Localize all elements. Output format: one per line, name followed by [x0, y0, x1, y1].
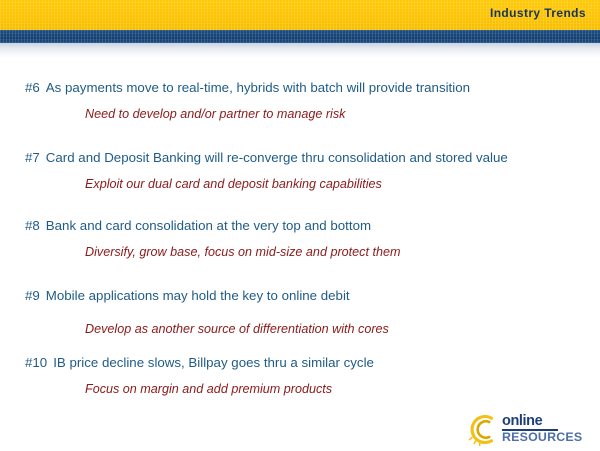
company-logo: online RESOURCES — [466, 410, 594, 448]
bullet-main-line: #6As payments move to real-time, hybrids… — [25, 80, 470, 95]
bullet-main-text: Bank and card consolidation at the very … — [46, 218, 371, 233]
logo-line-online: online — [502, 414, 542, 429]
bullet-main-text: As payments move to real-time, hybrids w… — [46, 80, 470, 95]
bullet-main-text: Card and Deposit Banking will re-converg… — [46, 150, 508, 165]
bullet-sub-line: Need to develop and/or partner to manage… — [85, 107, 345, 121]
bullet-main-line: #7Card and Deposit Banking will re-conve… — [25, 150, 508, 165]
bullet-main-line: #10IB price decline slows, Billpay goes … — [25, 355, 374, 370]
bullet-sub-line: Develop as another source of differentia… — [85, 322, 389, 336]
bullet-sub-line: Focus on margin and add premium products — [85, 382, 332, 396]
header-fade-gradient — [0, 43, 600, 58]
bullet-number: #7 — [25, 150, 40, 165]
bullet-number: #8 — [25, 218, 40, 233]
logo-wordmark: online RESOURCES — [502, 414, 594, 446]
header-blue-band — [0, 30, 600, 43]
bullet-sub-line: Exploit our dual card and deposit bankin… — [85, 177, 382, 191]
bullet-main-line: #8Bank and card consolidation at the ver… — [25, 218, 371, 233]
bullet-number: #6 — [25, 80, 40, 95]
crescent-arc-icon — [466, 413, 499, 446]
bullet-number: #9 — [25, 288, 40, 303]
bullet-main-text: IB price decline slows, Billpay goes thr… — [53, 355, 374, 370]
page-title: Industry Trends — [490, 6, 586, 20]
bullet-sub-line: Diversify, grow base, focus on mid-size … — [85, 245, 400, 259]
logo-line-resources: RESOURCES — [502, 430, 582, 444]
bullet-number: #10 — [25, 355, 47, 370]
slide-header-banner: Industry Trends — [0, 0, 600, 58]
bullet-main-text: Mobile applications may hold the key to … — [46, 288, 350, 303]
bullet-main-line: #9Mobile applications may hold the key t… — [25, 288, 350, 303]
slide-body: #6As payments move to real-time, hybrids… — [0, 58, 600, 450]
